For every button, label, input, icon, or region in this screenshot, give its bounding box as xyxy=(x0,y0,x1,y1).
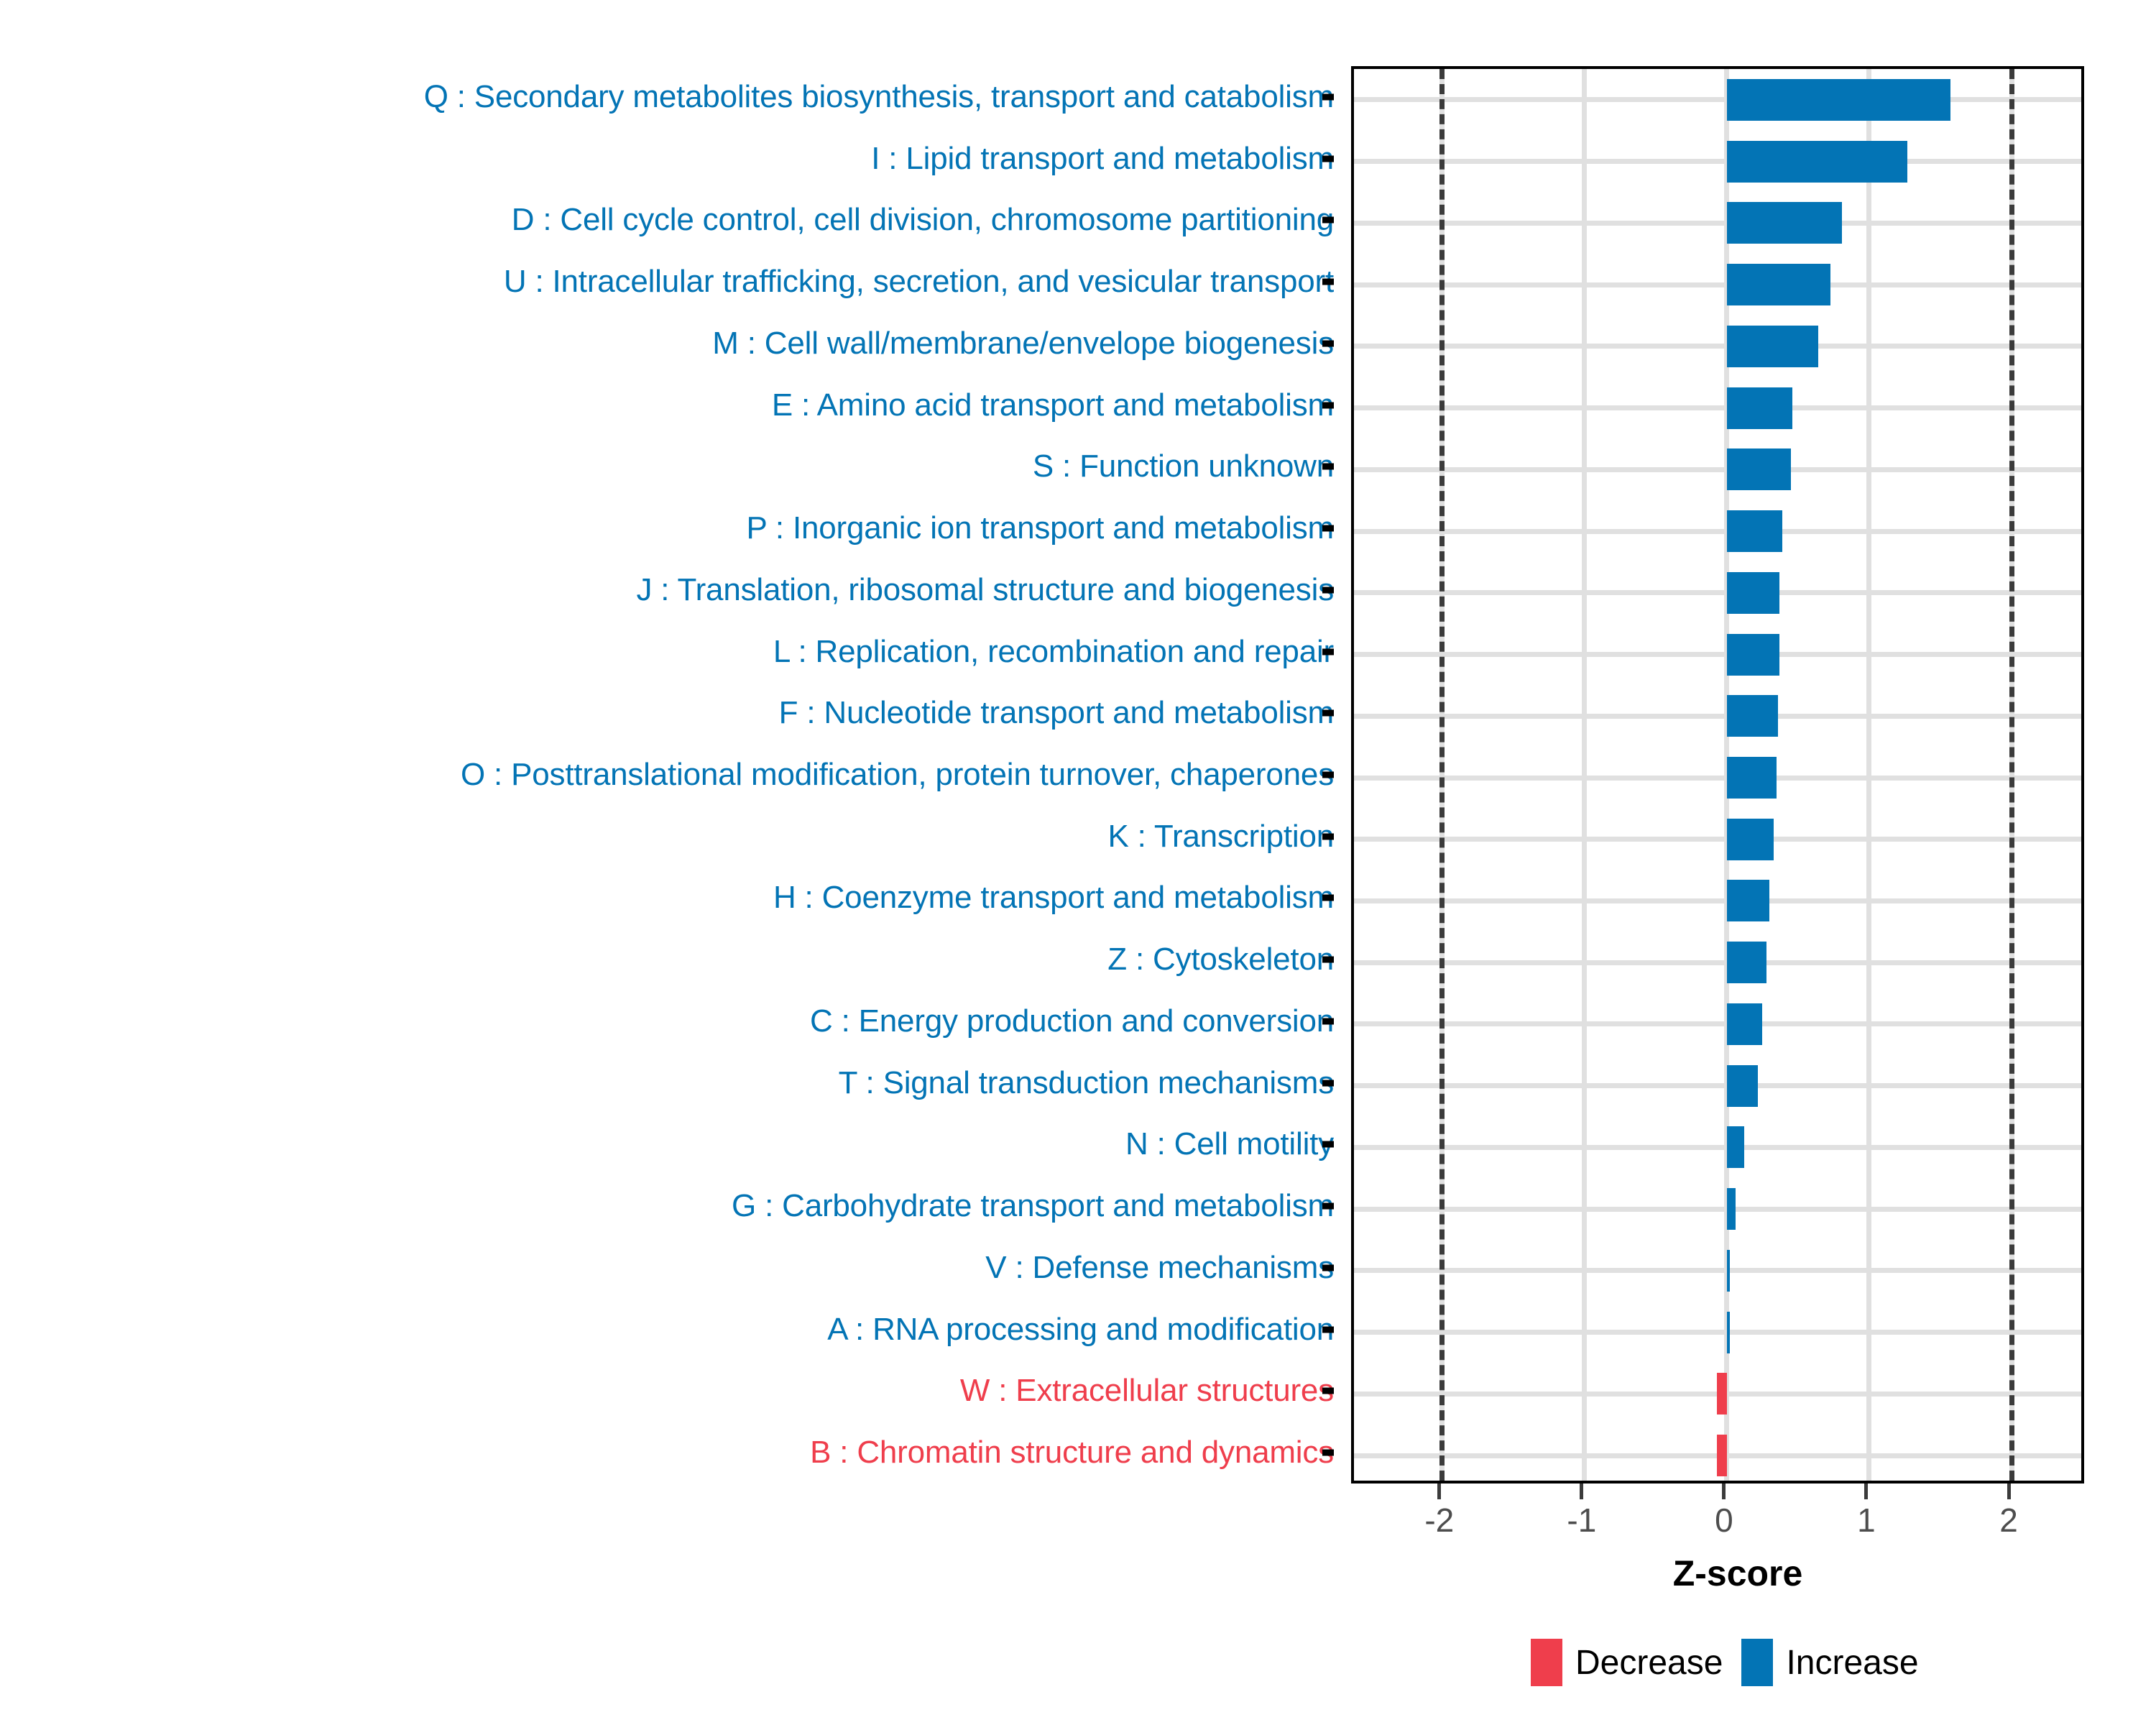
y-axis-label: Z : Cytoskeleton xyxy=(1107,943,1334,976)
y-axis-tick xyxy=(1322,772,1334,778)
y-axis-label: N : Cell motility xyxy=(1125,1128,1334,1161)
bar[interactable] xyxy=(1717,1373,1727,1414)
bar[interactable] xyxy=(1727,448,1791,490)
bar-row xyxy=(1354,809,2081,870)
bar-row xyxy=(1354,1363,2081,1425)
x-axis-tick-label: 2 xyxy=(1999,1501,2018,1540)
y-axis-label: F : Nucleotide transport and metabolism xyxy=(779,696,1334,730)
y-axis-tick xyxy=(1322,217,1334,224)
y-axis-tick xyxy=(1322,586,1334,593)
bar-row xyxy=(1354,1240,2081,1302)
bar-row xyxy=(1354,747,2081,809)
bar-row xyxy=(1354,69,2081,131)
x-axis-tick-label: -1 xyxy=(1567,1501,1596,1540)
y-axis-label: S : Function unknown xyxy=(1033,450,1334,483)
x-axis-tick xyxy=(1864,1483,1868,1499)
y-axis-label: K : Transcription xyxy=(1107,820,1334,853)
y-axis-tick xyxy=(1322,1080,1334,1086)
bar-row xyxy=(1354,1117,2081,1179)
y-axis-label: B : Chromatin structure and dynamics xyxy=(810,1436,1334,1469)
bar-row xyxy=(1354,624,2081,686)
y-axis-label: O : Posttranslational modification, prot… xyxy=(461,758,1334,791)
bar-row xyxy=(1354,1178,2081,1240)
legend-swatch-increase xyxy=(1741,1639,1773,1686)
legend-item-increase[interactable]: Increase xyxy=(1741,1639,1918,1686)
bar-row xyxy=(1354,931,2081,993)
y-axis-tick xyxy=(1322,648,1334,655)
bar[interactable] xyxy=(1727,695,1778,737)
chart-legend: Decrease Increase xyxy=(1531,1639,1919,1686)
bar-row xyxy=(1354,685,2081,747)
bar-row xyxy=(1354,870,2081,932)
bar[interactable] xyxy=(1727,387,1792,429)
y-axis-label: T : Signal transduction mechanisms xyxy=(839,1067,1334,1100)
y-axis-label: C : Energy production and conversion xyxy=(810,1005,1334,1038)
x-axis-tick xyxy=(2007,1483,2011,1499)
bar-row xyxy=(1354,316,2081,377)
x-axis-tick-label: 1 xyxy=(1857,1501,1876,1540)
bar[interactable] xyxy=(1727,1250,1730,1292)
y-axis-label: H : Coenzyme transport and metabolism xyxy=(773,881,1334,914)
bar[interactable] xyxy=(1727,141,1908,183)
bar[interactable] xyxy=(1727,634,1779,676)
bar-row xyxy=(1354,438,2081,500)
y-axis-label: D : Cell cycle control, cell division, c… xyxy=(512,203,1334,236)
y-axis-label: Q : Secondary metabolites biosynthesis, … xyxy=(424,80,1334,114)
y-axis-tick xyxy=(1322,1450,1334,1456)
x-axis-tick xyxy=(1580,1483,1583,1499)
bar-row xyxy=(1354,254,2081,316)
y-axis-tick xyxy=(1322,464,1334,470)
y-axis-tick xyxy=(1322,279,1334,285)
y-axis-label: A : RNA processing and modification xyxy=(827,1313,1334,1346)
y-axis-tick xyxy=(1322,833,1334,839)
x-axis-tick-label: -2 xyxy=(1424,1501,1454,1540)
y-axis-tick xyxy=(1322,525,1334,532)
bar[interactable] xyxy=(1727,880,1769,921)
legend-label-increase: Increase xyxy=(1786,1643,1918,1683)
y-axis-labels: Q : Secondary metabolites biosynthesis, … xyxy=(0,66,1334,1483)
y-axis-tick xyxy=(1322,1388,1334,1394)
y-axis-label: P : Inorganic ion transport and metaboli… xyxy=(747,512,1334,545)
bar[interactable] xyxy=(1727,1003,1763,1045)
bar[interactable] xyxy=(1727,326,1818,367)
y-axis-tick xyxy=(1322,1141,1334,1148)
bar[interactable] xyxy=(1727,942,1766,983)
y-axis-tick xyxy=(1322,1018,1334,1024)
y-axis-label: M : Cell wall/membrane/envelope biogenes… xyxy=(712,327,1334,360)
bar-row xyxy=(1354,500,2081,562)
legend-swatch-decrease xyxy=(1531,1639,1562,1686)
bar-row xyxy=(1354,562,2081,624)
x-axis-title: Z-score xyxy=(1673,1552,1803,1594)
plot-panel xyxy=(1351,66,2084,1483)
y-axis-tick xyxy=(1322,1264,1334,1271)
y-axis-tick xyxy=(1322,340,1334,346)
y-axis-tick xyxy=(1322,957,1334,963)
y-axis-tick xyxy=(1322,402,1334,408)
legend-label-decrease: Decrease xyxy=(1575,1643,1723,1683)
x-axis-tick xyxy=(1722,1483,1726,1499)
chart-root: Q : Secondary metabolites biosynthesis, … xyxy=(0,0,2156,1725)
bar-row xyxy=(1354,1055,2081,1117)
y-axis-label: L : Replication, recombination and repai… xyxy=(773,635,1334,668)
bar-row xyxy=(1354,192,2081,254)
y-axis-label: G : Carbohydrate transport and metabolis… xyxy=(732,1190,1334,1223)
bar[interactable] xyxy=(1727,510,1782,552)
bar-row xyxy=(1354,1302,2081,1363)
bar[interactable] xyxy=(1727,1188,1736,1230)
y-axis-tick xyxy=(1322,1203,1334,1210)
y-axis-label: J : Translation, ribosomal structure and… xyxy=(636,574,1334,607)
legend-item-decrease[interactable]: Decrease xyxy=(1531,1639,1723,1686)
bars-container xyxy=(1354,69,2081,1481)
bar[interactable] xyxy=(1717,1435,1727,1476)
y-axis-label: I : Lipid transport and metabolism xyxy=(871,142,1334,175)
bar[interactable] xyxy=(1727,202,1842,244)
y-axis-label: V : Defense mechanisms xyxy=(985,1251,1334,1284)
bar[interactable] xyxy=(1727,1065,1759,1107)
y-axis-label: W : Extracellular structures xyxy=(960,1374,1334,1407)
y-axis-label: E : Amino acid transport and metabolism xyxy=(772,389,1334,422)
y-axis-tick xyxy=(1322,710,1334,717)
bar[interactable] xyxy=(1727,819,1774,860)
bar-row xyxy=(1354,993,2081,1055)
bar[interactable] xyxy=(1727,1312,1730,1353)
y-axis-tick xyxy=(1322,895,1334,901)
bar[interactable] xyxy=(1727,757,1777,799)
bar[interactable] xyxy=(1727,1126,1744,1168)
y-axis-tick xyxy=(1322,155,1334,162)
bar-row xyxy=(1354,131,2081,193)
x-axis-tick-label: 0 xyxy=(1715,1501,1733,1540)
bar[interactable] xyxy=(1727,572,1779,614)
bar-row xyxy=(1354,377,2081,439)
bar-row xyxy=(1354,1425,2081,1486)
y-axis-label: U : Intracellular trafficking, secretion… xyxy=(504,265,1334,298)
bar[interactable] xyxy=(1727,264,1831,305)
x-axis-tick xyxy=(1437,1483,1441,1499)
y-axis-tick xyxy=(1322,1326,1334,1333)
y-axis-tick xyxy=(1322,93,1334,100)
bar[interactable] xyxy=(1727,79,1950,121)
